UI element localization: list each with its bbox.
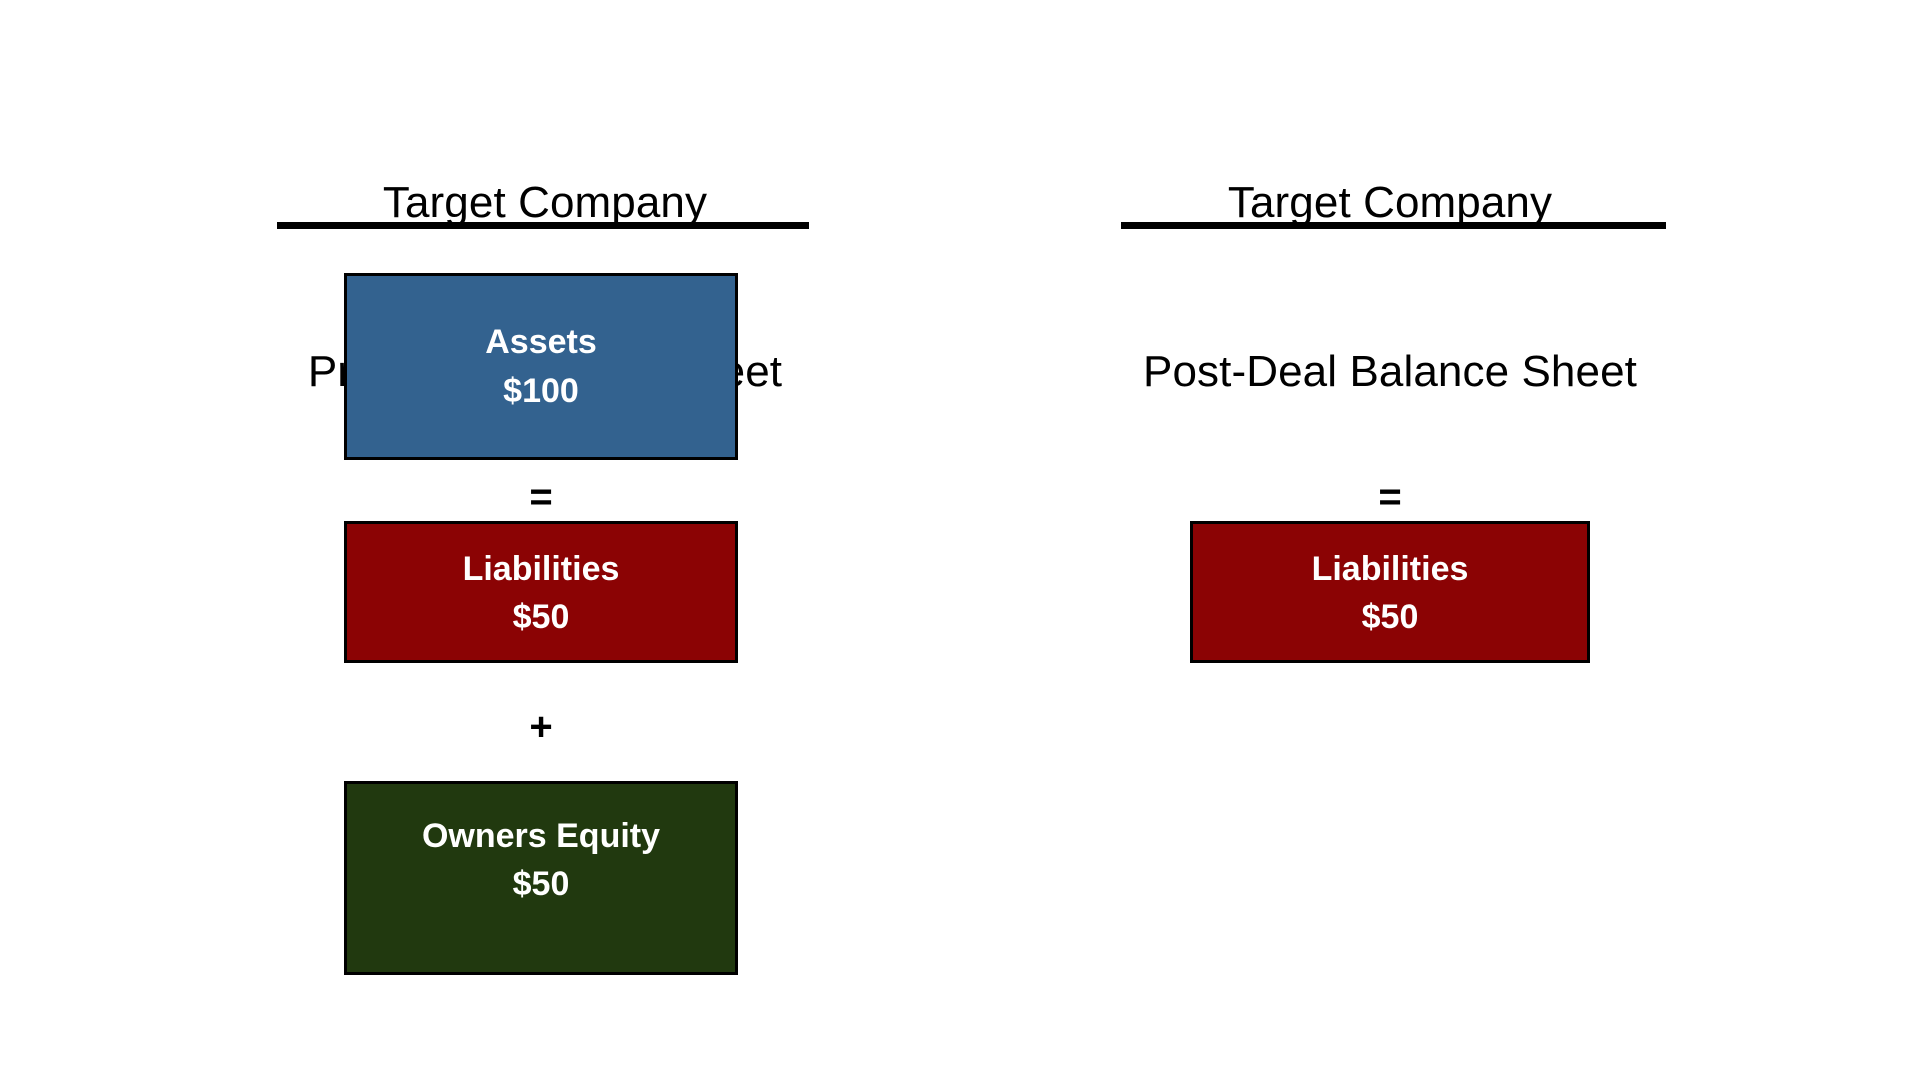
balance-box-liabilities-post[interactable]: Liabilities $50 <box>1190 521 1590 663</box>
panel-pre-deal: Target Company Pre-Deal Balance Sheet As… <box>230 0 860 1080</box>
page-title-post-deal: Target Company Post-Deal Balance Sheet <box>1075 62 1705 513</box>
operator-equals-post: = <box>1190 477 1590 517</box>
balance-box-assets-value: $100 <box>503 367 579 415</box>
slide-canvas: Target Company Pre-Deal Balance Sheet As… <box>0 0 1920 1080</box>
balance-box-owners-equity[interactable]: Owners Equity $50 <box>344 781 738 975</box>
balance-box-liabilities-label: Liabilities <box>463 545 620 593</box>
balance-box-liabilities-post-label: Liabilities <box>1312 545 1469 593</box>
title-underline-pre-deal <box>277 222 809 229</box>
title-line-sheet-post: Post-Deal Balance Sheet <box>1075 344 1705 400</box>
operator-plus-pre: + <box>344 707 738 747</box>
balance-box-assets[interactable]: Assets $100 <box>344 273 738 460</box>
balance-box-liabilities-value: $50 <box>513 593 570 641</box>
balance-box-owners-equity-value: $50 <box>513 860 570 908</box>
balance-box-liabilities-post-value: $50 <box>1362 593 1419 641</box>
operator-equals-pre: = <box>344 477 738 517</box>
panel-post-deal: Target Company Post-Deal Balance Sheet =… <box>1075 0 1705 1080</box>
balance-box-owners-equity-label: Owners Equity <box>422 812 660 860</box>
balance-box-liabilities[interactable]: Liabilities $50 <box>344 521 738 663</box>
title-underline-post-deal <box>1121 222 1666 229</box>
balance-box-assets-label: Assets <box>485 318 597 366</box>
